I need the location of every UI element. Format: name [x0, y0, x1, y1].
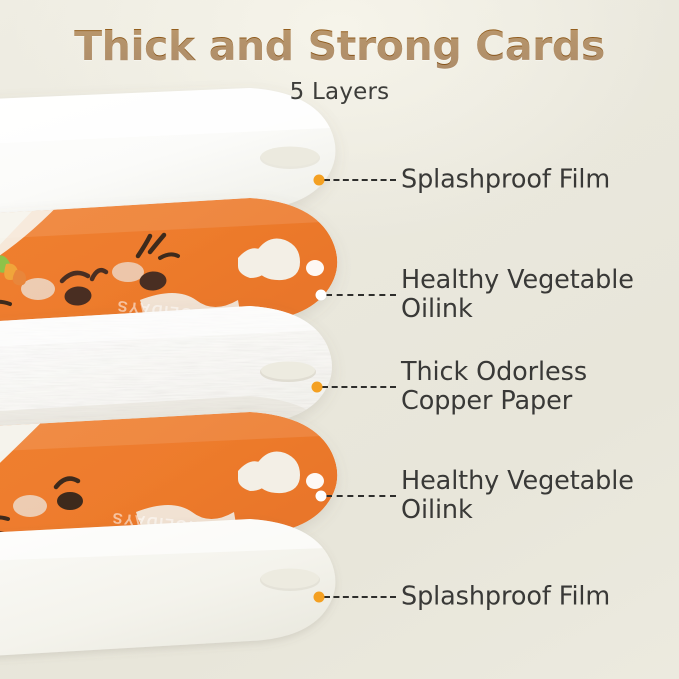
- page-title: Thick and Strong Cards: [0, 0, 679, 70]
- callout-marker-dot-icon: [314, 592, 325, 603]
- layer-splashproof-film-bottom: [0, 519, 335, 664]
- page-subtitle: 5 Layers: [0, 79, 679, 105]
- callout-label: Splashproof Film: [401, 582, 610, 611]
- header: Thick and Strong Cards 5 Layers: [0, 0, 679, 105]
- leader-line: [324, 596, 396, 598]
- leader-line: [326, 495, 396, 497]
- callout-splashproof-film-top[interactable]: Splashproof Film: [319, 163, 659, 197]
- infographic-canvas: HOLIDAYS: [0, 0, 679, 679]
- callout-label: Healthy Vegetable Oilink: [401, 467, 634, 525]
- callout-label: Healthy Vegetable Oilink: [401, 266, 634, 324]
- callout-marker-dot-icon: [316, 491, 327, 502]
- leader-line: [326, 294, 396, 296]
- leader-line: [324, 179, 396, 181]
- leader-line: [322, 386, 396, 388]
- callout-label: Splashproof Film: [401, 165, 610, 194]
- callout-splashproof-film-bottom[interactable]: Splashproof Film: [319, 580, 659, 614]
- callout-label: Thick Odorless Copper Paper: [401, 358, 587, 416]
- callout-copper-paper[interactable]: Thick Odorless Copper Paper: [317, 370, 657, 404]
- callout-veg-oilink-bottom[interactable]: Healthy Vegetable Oilink: [321, 479, 661, 513]
- callout-marker-dot-icon: [316, 290, 327, 301]
- callout-marker-dot-icon: [312, 382, 323, 393]
- callout-marker-dot-icon: [314, 175, 325, 186]
- callout-veg-oilink-top[interactable]: Healthy Vegetable Oilink: [321, 278, 661, 312]
